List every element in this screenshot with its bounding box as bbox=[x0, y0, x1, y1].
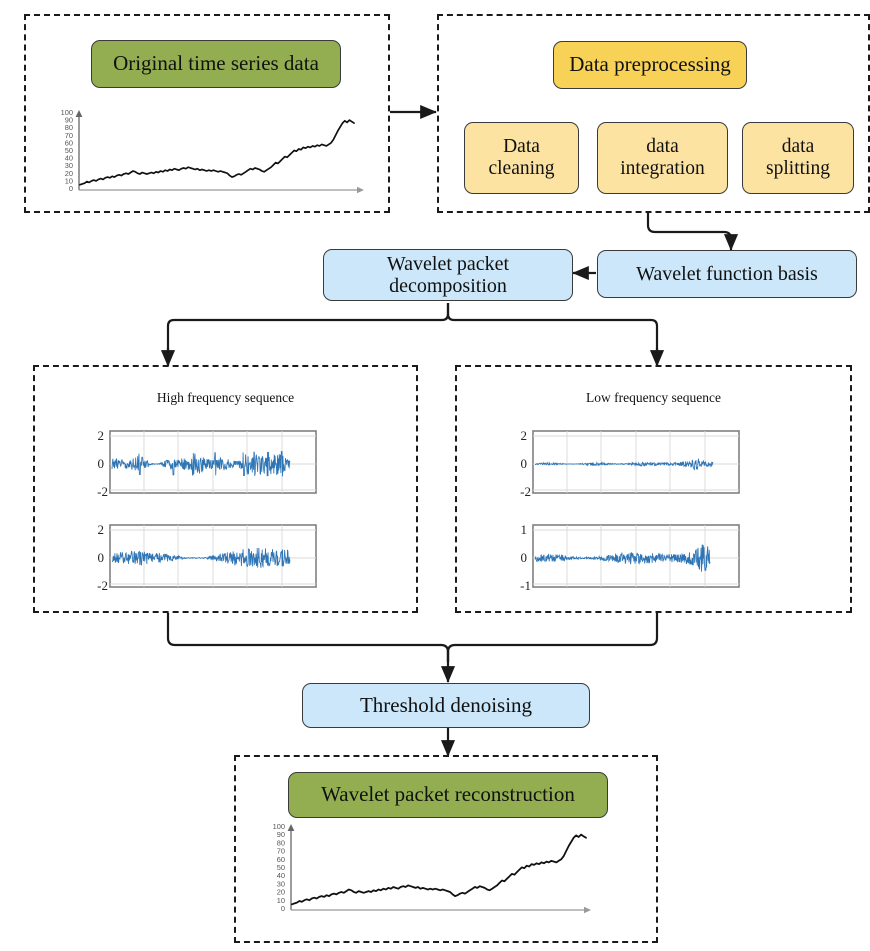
node-data-cleaning[interactable]: Data cleaning bbox=[464, 122, 579, 194]
svg-text:2: 2 bbox=[98, 428, 105, 443]
chart-high-freq-lower: 20-2 bbox=[82, 522, 322, 594]
chart-low-freq-upper: 20-2 bbox=[505, 428, 745, 500]
svg-text:0: 0 bbox=[521, 550, 528, 565]
node-data-integration[interactable]: data integration bbox=[597, 122, 728, 194]
svg-text:-2: -2 bbox=[520, 484, 531, 499]
label-high-frequency-sequence: High frequency sequence bbox=[33, 390, 418, 406]
node-data-splitting[interactable]: data splitting bbox=[742, 122, 854, 194]
edge-high-merge bbox=[168, 613, 448, 662]
svg-text:2: 2 bbox=[98, 522, 105, 537]
node-wavelet-packet-decomposition[interactable]: Wavelet packet decomposition bbox=[323, 249, 573, 301]
node-wavelet-packet-reconstruction[interactable]: Wavelet packet reconstruction bbox=[288, 772, 608, 818]
node-data-preprocessing[interactable]: Data preprocessing bbox=[553, 41, 747, 89]
svg-text:0: 0 bbox=[521, 456, 528, 471]
node-original-time-series-data[interactable]: Original time series data bbox=[91, 40, 341, 88]
node-threshold-denoising[interactable]: Threshold denoising bbox=[302, 683, 590, 728]
chart-reconstructed-time-series: 1009080 706050 403020 100 bbox=[258, 818, 608, 926]
chart-original-time-series: 1009080 706050 403020 100 bbox=[46, 104, 376, 206]
label-low-frequency-sequence: Low frequency sequence bbox=[455, 390, 852, 406]
node-wavelet-function-basis[interactable]: Wavelet function basis bbox=[597, 250, 857, 298]
edge-preprocessing-to-basis bbox=[648, 213, 731, 250]
svg-text:0: 0 bbox=[281, 904, 285, 913]
svg-text:0: 0 bbox=[98, 550, 105, 565]
svg-text:0: 0 bbox=[69, 184, 73, 193]
edge-decomposition-split-right bbox=[448, 303, 657, 360]
chart-high-freq-upper: 20-2 bbox=[82, 428, 322, 500]
svg-text:0: 0 bbox=[98, 456, 105, 471]
chart-low-freq-lower: 10-1 bbox=[505, 522, 745, 594]
flowchart-canvas: Original time series data Data preproces… bbox=[0, 0, 870, 951]
edge-decomposition-split bbox=[168, 303, 448, 360]
svg-text:-2: -2 bbox=[97, 484, 108, 499]
svg-text:-2: -2 bbox=[97, 578, 108, 593]
svg-text:2: 2 bbox=[521, 428, 528, 443]
svg-text:1: 1 bbox=[521, 522, 528, 537]
svg-text:-1: -1 bbox=[520, 578, 531, 593]
edge-low-merge bbox=[448, 613, 657, 662]
